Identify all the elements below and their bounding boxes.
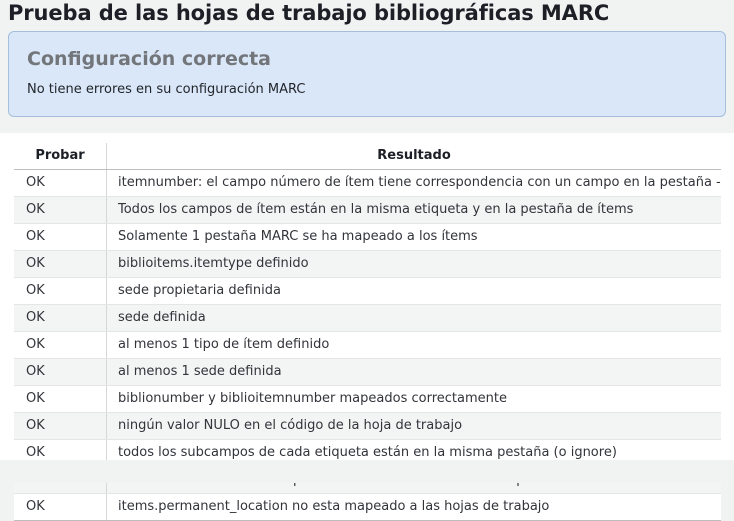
cell-probar: OK xyxy=(14,413,107,440)
cell-resultado: al menos 1 sede definida xyxy=(107,359,722,386)
cell-probar: OK xyxy=(14,197,107,224)
cell-probar: OK xyxy=(14,305,107,332)
alert-heading: Configuración correcta xyxy=(27,48,707,70)
cell-probar: OK xyxy=(14,332,107,359)
cell-probar: OK xyxy=(14,224,107,251)
table-row: OKitemnumber: el campo número de ítem ti… xyxy=(14,170,721,197)
cell-probar: OK xyxy=(14,170,107,197)
column-header-resultado: Resultado xyxy=(107,143,722,170)
table-head: Probar Resultado xyxy=(14,143,721,170)
alert-message: No tiene errores en su configuración MAR… xyxy=(27,82,707,98)
alert-container: Configuración correcta No tiene errores … xyxy=(0,26,734,117)
cell-resultado: itemnumber: el campo número de ítem tien… xyxy=(107,170,722,197)
table-row: OKsede definida xyxy=(14,305,721,332)
table-row: OKTodos los campos de ítem están en la m… xyxy=(14,197,721,224)
cell-probar: OK xyxy=(14,494,107,521)
content-panel: Probar Resultado OKitemnumber: el campo … xyxy=(0,133,734,460)
table-header-row: Probar Resultado xyxy=(14,143,721,170)
table-row: OKal menos 1 tipo de ítem definido xyxy=(14,332,721,359)
table-row: OKbiblionumber y biblioitemnumber mapead… xyxy=(14,386,721,413)
cell-resultado: items.permanent_location no esta mapeado… xyxy=(107,494,722,521)
cell-resultado: sede definida xyxy=(107,305,722,332)
cell-resultado: sede propietaria definida xyxy=(107,278,722,305)
column-header-probar: Probar xyxy=(14,143,107,170)
table-row: OKitems.permanent_location no esta mapea… xyxy=(14,494,721,521)
table-row: OKbiblioitems.itemtype definido xyxy=(14,251,721,278)
table-row: OKsede propietaria definida xyxy=(14,278,721,305)
success-alert: Configuración correcta No tiene errores … xyxy=(8,31,726,117)
cell-resultado: al menos 1 tipo de ítem definido xyxy=(107,332,722,359)
cell-probar: OK xyxy=(14,359,107,386)
cell-resultado: ningún valor NULO en el código de la hoj… xyxy=(107,413,722,440)
cell-probar: OK xyxy=(14,278,107,305)
cell-resultado: Todos los campos de ítem están en la mis… xyxy=(107,197,722,224)
cell-resultado: biblionumber y biblioitemnumber mapeados… xyxy=(107,386,722,413)
cell-probar: OK xyxy=(14,386,107,413)
table-row: OKal menos 1 sede definida xyxy=(14,359,721,386)
page-title: Prueba de las hojas de trabajo bibliográ… xyxy=(0,0,734,26)
cell-resultado: Solamente 1 pestaña MARC se ha mapeado a… xyxy=(107,224,722,251)
table-row: OKSolamente 1 pestaña MARC se ha mapeado… xyxy=(14,224,721,251)
cell-probar: OK xyxy=(14,251,107,278)
page-footer-space xyxy=(0,460,734,483)
table-row: OKningún valor NULO en el código de la h… xyxy=(14,413,721,440)
cell-resultado: biblioitems.itemtype definido xyxy=(107,251,722,278)
